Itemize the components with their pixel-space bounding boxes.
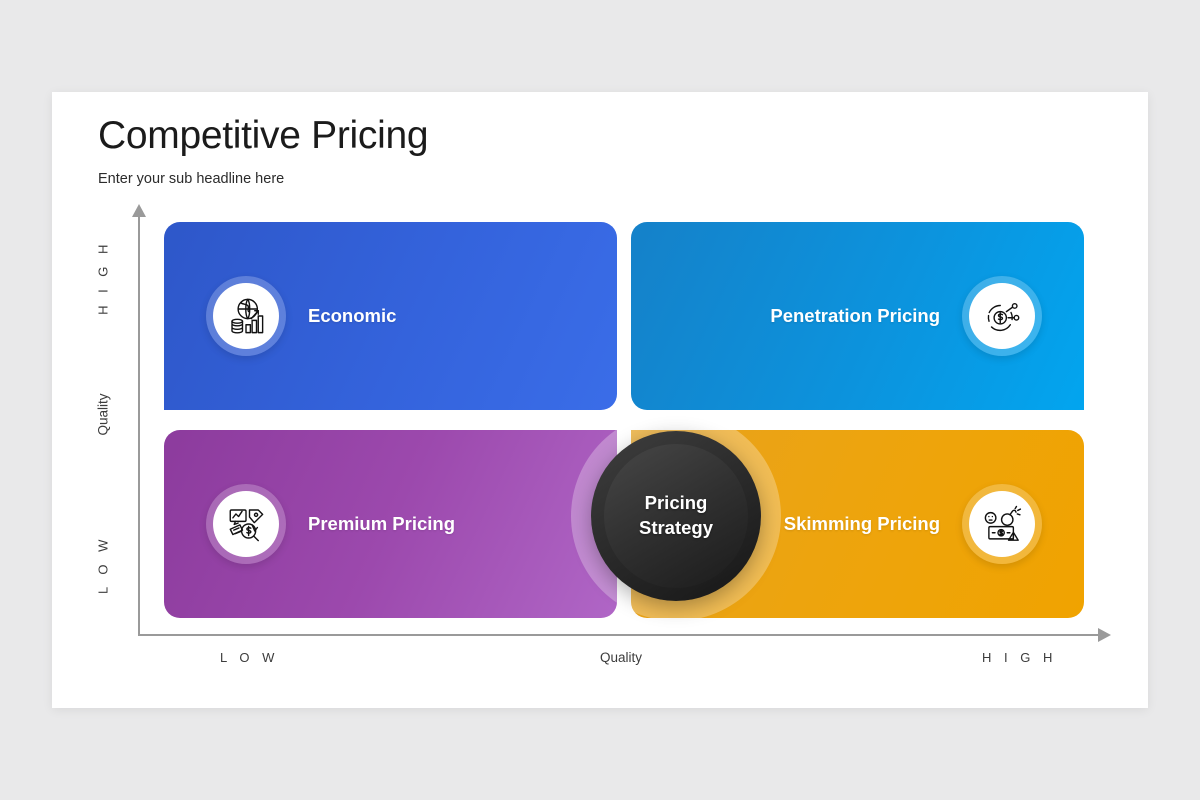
y-axis-label-low: L O W: [96, 510, 111, 620]
quadrant-label-premium-pricing: Premium Pricing: [308, 513, 455, 535]
globe-coins-chart-icon: [225, 295, 267, 337]
hub-label-line1: Pricing: [645, 492, 708, 513]
quadrant-economic[interactable]: Economic: [164, 222, 617, 410]
quadrant-penetration-pricing[interactable]: Penetration Pricing: [631, 222, 1084, 410]
y-axis-arrow-icon: [132, 204, 146, 217]
x-axis-label-high: H I G H: [982, 650, 1057, 665]
quadrant-label-economic: Economic: [308, 305, 396, 327]
quadrant-premium-pricing[interactable]: Premium Pricing: [164, 430, 617, 618]
slide-canvas: Competitive Pricing Enter your sub headl…: [52, 92, 1148, 708]
icon-badge-penetration-pricing: [962, 276, 1042, 356]
pricing-matrix: H I G H Quality L O W L O W Quality H I …: [52, 92, 1148, 708]
y-axis-label-high: H I G H: [96, 223, 111, 333]
pricing-strategy-hub[interactable]: Pricing Strategy: [591, 431, 761, 601]
x-axis-label-low: L O W: [220, 650, 279, 665]
quadrant-label-penetration-pricing: Penetration Pricing: [770, 305, 940, 327]
y-axis-label-title: Quality: [96, 360, 111, 470]
icon-badge-premium-pricing: [206, 484, 286, 564]
icon-badge-economic: [206, 276, 286, 356]
x-axis-label-title: Quality: [600, 650, 642, 665]
x-axis-line: [138, 634, 1104, 636]
target-dollar-network-icon: [981, 295, 1023, 337]
y-axis-line: [138, 216, 140, 636]
x-axis-arrow-icon: [1098, 628, 1111, 642]
chart-tag-magnifier-dollar-icon: [225, 503, 267, 545]
banknote-bomb-warning-icon: [981, 503, 1023, 545]
icon-badge-skimming-pricing: [962, 484, 1042, 564]
hub-label-line2: Strategy: [639, 517, 713, 538]
quadrant-label-skimming-pricing: Skimming Pricing: [784, 513, 940, 535]
